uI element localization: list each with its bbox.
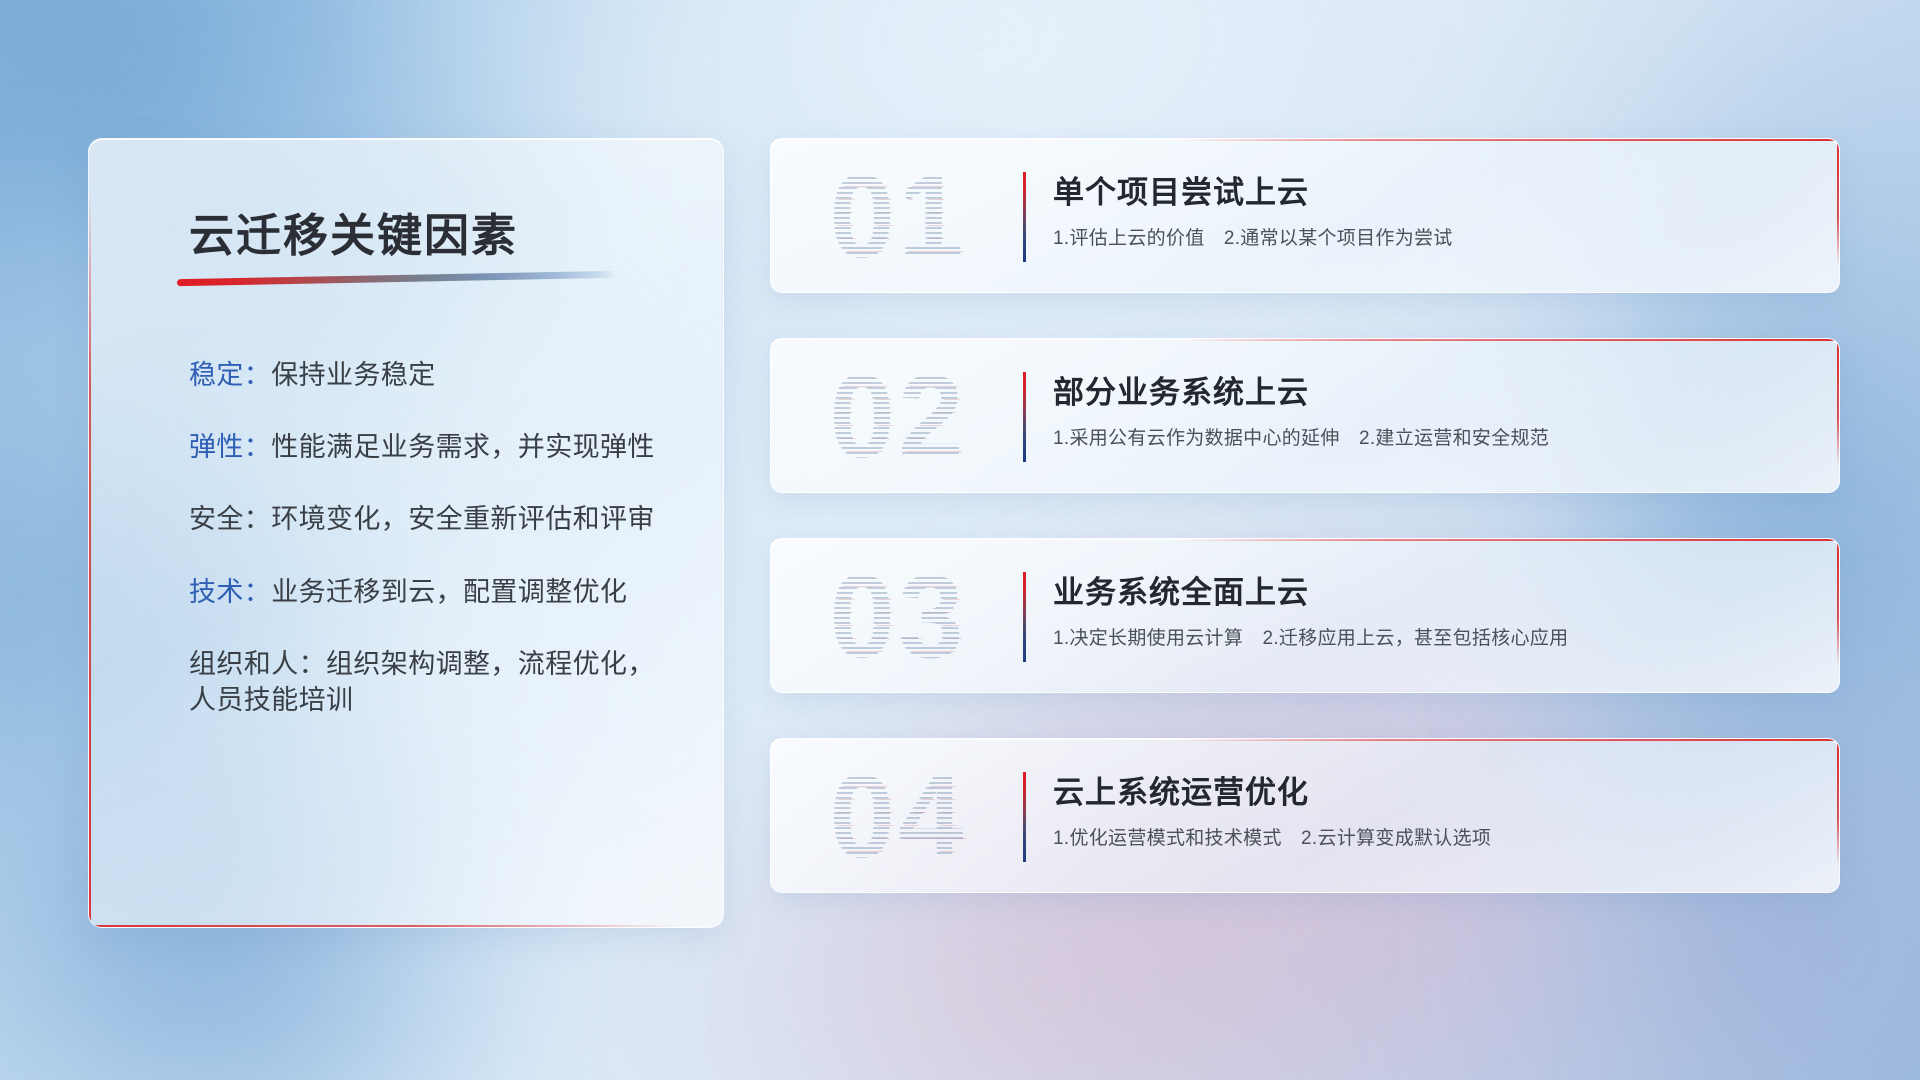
key-factors-list: 稳定：保持业务稳定 弹性：性能满足业务需求，并实现弹性 安全：环境变化，安全重新… bbox=[189, 357, 681, 754]
page-title: 云迁移关键因素 bbox=[189, 199, 518, 264]
list-item: 稳定：保持业务稳定 bbox=[189, 357, 681, 393]
list-item-label: 稳定： bbox=[189, 360, 271, 390]
stage-subtitle: 1.决定长期使用云计算 2.迁移应用上云，甚至包括核心应用 bbox=[1053, 623, 1568, 650]
list-item-label: 安全： bbox=[189, 504, 271, 534]
list-item-label: 弹性： bbox=[189, 432, 271, 462]
list-item-label: 技术： bbox=[189, 577, 271, 607]
list-item: 弹性：性能满足业务需求，并实现弹性 bbox=[189, 429, 681, 465]
stage-number: 01 bbox=[793, 147, 1003, 287]
stage-number: 03 bbox=[793, 547, 1003, 687]
stage-subtitle: 1.采用公有云作为数据中心的延伸 2.建立运营和安全规范 bbox=[1053, 423, 1549, 450]
list-item: 安全：环境变化，安全重新评估和评审 bbox=[189, 501, 681, 537]
stage-divider-bar bbox=[1023, 372, 1026, 462]
list-item: 技术：业务迁移到云，配置调整优化 bbox=[189, 574, 681, 610]
stage-card[interactable]: 04 04 云上系统运营优化 1.优化运营模式和技术模式 2.云计算变成默认选项 bbox=[770, 738, 1840, 893]
stage-card[interactable]: 03 03 业务系统全面上云 1.决定长期使用云计算 2.迁移应用上云，甚至包括… bbox=[770, 538, 1840, 693]
migration-stages-list: 01 01 单个项目尝试上云 1.评估上云的价值 2.通常以某个项目作为尝试 0… bbox=[770, 138, 1840, 938]
list-item-label: 组织和人： bbox=[189, 649, 326, 679]
panel-accent-left-edge bbox=[89, 191, 91, 927]
stage-divider-bar bbox=[1023, 572, 1026, 662]
stage-divider-bar bbox=[1023, 172, 1026, 262]
card-accent-top-edge bbox=[1177, 539, 1839, 541]
list-item-text: 保持业务稳定 bbox=[271, 360, 435, 390]
slide-canvas: 云迁移关键因素 稳定：保持业务稳定 弹性：性能满足业务需求，并实现弹性 安全：环… bbox=[0, 0, 1920, 1080]
card-accent-top-edge bbox=[1177, 739, 1839, 741]
stage-subtitle: 1.优化运营模式和技术模式 2.云计算变成默认选项 bbox=[1053, 823, 1491, 850]
stage-card[interactable]: 01 01 单个项目尝试上云 1.评估上云的价值 2.通常以某个项目作为尝试 bbox=[770, 138, 1840, 293]
stage-title: 部分业务系统上云 bbox=[1053, 367, 1309, 412]
card-accent-top-edge bbox=[1177, 339, 1839, 341]
card-accent-right-edge bbox=[1837, 339, 1839, 466]
title-underline bbox=[177, 271, 617, 286]
stage-number: 04 bbox=[793, 747, 1003, 887]
stage-card[interactable]: 02 02 部分业务系统上云 1.采用公有云作为数据中心的延伸 2.建立运营和安… bbox=[770, 338, 1840, 493]
card-accent-top-edge bbox=[1177, 139, 1839, 141]
list-item-text: 业务迁移到云，配置调整优化 bbox=[271, 577, 627, 607]
panel-accent-bottom-edge bbox=[89, 925, 679, 927]
stage-title: 云上系统运营优化 bbox=[1053, 767, 1309, 812]
list-item-text: 环境变化，安全重新评估和评审 bbox=[271, 504, 655, 534]
stage-title: 业务系统全面上云 bbox=[1053, 567, 1309, 612]
key-factors-panel: 云迁移关键因素 稳定：保持业务稳定 弹性：性能满足业务需求，并实现弹性 安全：环… bbox=[88, 138, 724, 928]
card-accent-right-edge bbox=[1837, 739, 1839, 866]
list-item-text: 性能满足业务需求，并实现弹性 bbox=[271, 432, 655, 462]
list-item: 组织和人：组织架构调整，流程优化，人员技能培训 bbox=[189, 646, 681, 718]
stage-number: 02 bbox=[793, 347, 1003, 487]
card-accent-right-edge bbox=[1837, 539, 1839, 666]
stage-divider-bar bbox=[1023, 772, 1026, 862]
card-accent-right-edge bbox=[1837, 139, 1839, 266]
stage-title: 单个项目尝试上云 bbox=[1053, 167, 1309, 212]
stage-subtitle: 1.评估上云的价值 2.通常以某个项目作为尝试 bbox=[1053, 223, 1453, 250]
